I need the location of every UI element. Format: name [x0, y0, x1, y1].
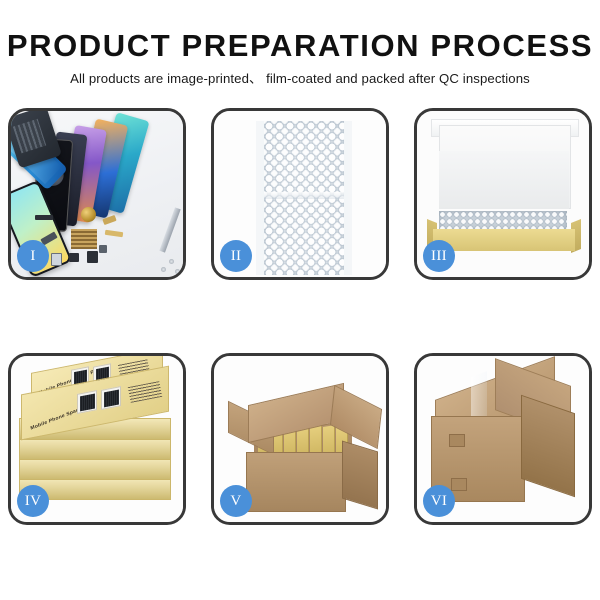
header: PRODUCT PREPARATION PROCESS All products… — [0, 0, 600, 85]
battery-strip-part — [35, 215, 53, 220]
vibrator-part — [87, 251, 98, 263]
step-badge-4: IV — [17, 485, 49, 517]
screw-part — [175, 269, 180, 274]
step-badge-1: I — [17, 240, 49, 272]
flex-cable-part — [105, 230, 124, 237]
step-panel-3: III — [414, 108, 592, 280]
stacked-box — [19, 438, 171, 460]
button-part — [99, 245, 107, 253]
step-panel-2: II — [211, 108, 389, 280]
step-badge-2: II — [220, 240, 252, 272]
bubble-wrap-contents — [439, 211, 567, 231]
camera-module-part — [69, 253, 79, 262]
step-panel-6: VI — [414, 353, 592, 525]
step-badge-5: V — [220, 485, 252, 517]
carton-side-face — [521, 395, 575, 498]
tweezer-tool — [159, 207, 180, 252]
box-window-thumb — [77, 390, 97, 414]
carton-handle-tab — [449, 434, 465, 447]
box-window-thumb — [101, 386, 121, 410]
box-lid-face — [439, 151, 569, 209]
bubble-wrapped-product — [264, 121, 344, 275]
speaker-coil-part — [81, 207, 96, 222]
product-preparation-infographic: PRODUCT PREPARATION PROCESS All products… — [0, 0, 600, 600]
page-title: PRODUCT PREPARATION PROCESS — [0, 30, 600, 61]
carton-front-face — [246, 452, 346, 512]
carton-handle-tab — [451, 478, 467, 491]
stacked-box — [19, 458, 171, 480]
sim-tray-part — [51, 253, 62, 266]
carton-side-face — [342, 440, 378, 509]
screw-part — [161, 267, 166, 272]
step-panel-4: Mobile Phone Spare Parts Mobile Phone Sp… — [8, 353, 186, 525]
step-panel-1: I — [8, 108, 186, 280]
step-badge-3: III — [423, 240, 455, 272]
connector-chip-grid — [71, 229, 97, 249]
screw-part — [169, 259, 174, 264]
page-subtitle: All products are image-printed、 film-coa… — [0, 72, 600, 85]
step-badge-6: VI — [423, 485, 455, 517]
steps-grid: I II III — [0, 105, 600, 555]
box-yellow-base — [433, 229, 575, 251]
step-panel-5: V — [211, 353, 389, 525]
